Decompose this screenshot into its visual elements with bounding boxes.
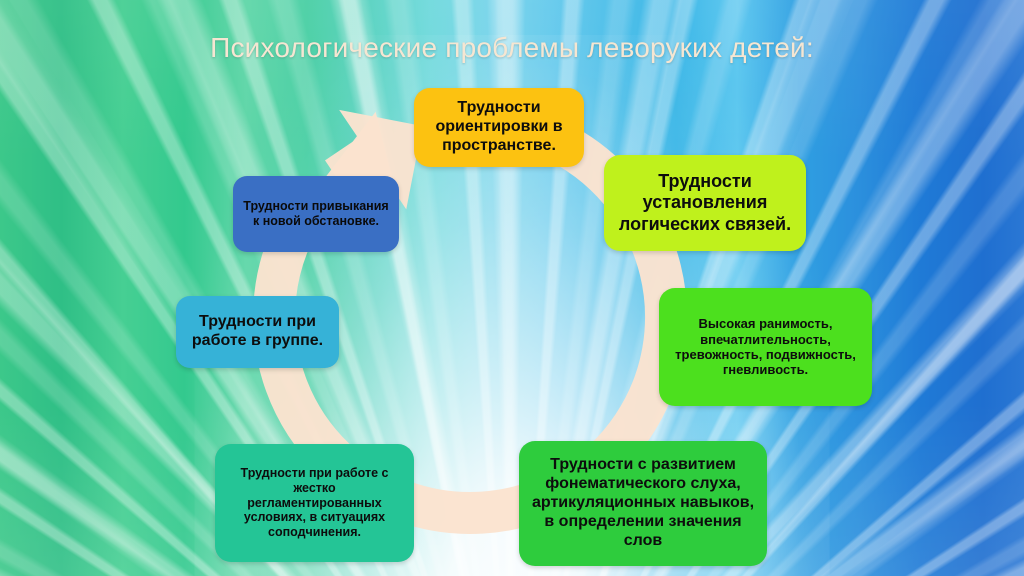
node-regulated[interactable]: Трудности при работе с жестко регламенти… — [215, 444, 414, 562]
node-sensitivity[interactable]: Высокая ранимость, впечатлительность, тр… — [659, 288, 872, 406]
node-adapt[interactable]: Трудности привыкания к новой обстановке. — [233, 176, 399, 252]
page-title: Психологические проблемы леворуких детей… — [0, 32, 1024, 64]
node-logic[interactable]: Трудности установления логических связей… — [604, 155, 806, 251]
node-orientation[interactable]: Трудности ориентировки в пространстве. — [414, 88, 584, 167]
node-group-label: Трудности при работе в группе. — [186, 313, 329, 351]
node-regulated-label: Трудности при работе с жестко регламенти… — [225, 466, 404, 540]
node-adapt-label: Трудности привыкания к новой обстановке. — [243, 199, 389, 229]
node-phonemic-label: Трудности с развитием фонематического сл… — [529, 456, 757, 550]
node-phonemic[interactable]: Трудности с развитием фонематического сл… — [519, 441, 767, 566]
node-sensitivity-label: Высокая ранимость, впечатлительность, тр… — [669, 316, 862, 377]
node-orientation-label: Трудности ориентировки в пространстве. — [424, 99, 574, 156]
presentation-slide: Психологические проблемы леворуких детей… — [0, 0, 1024, 576]
node-group[interactable]: Трудности при работе в группе. — [176, 296, 339, 368]
node-logic-label: Трудности установления логических связей… — [614, 171, 796, 235]
